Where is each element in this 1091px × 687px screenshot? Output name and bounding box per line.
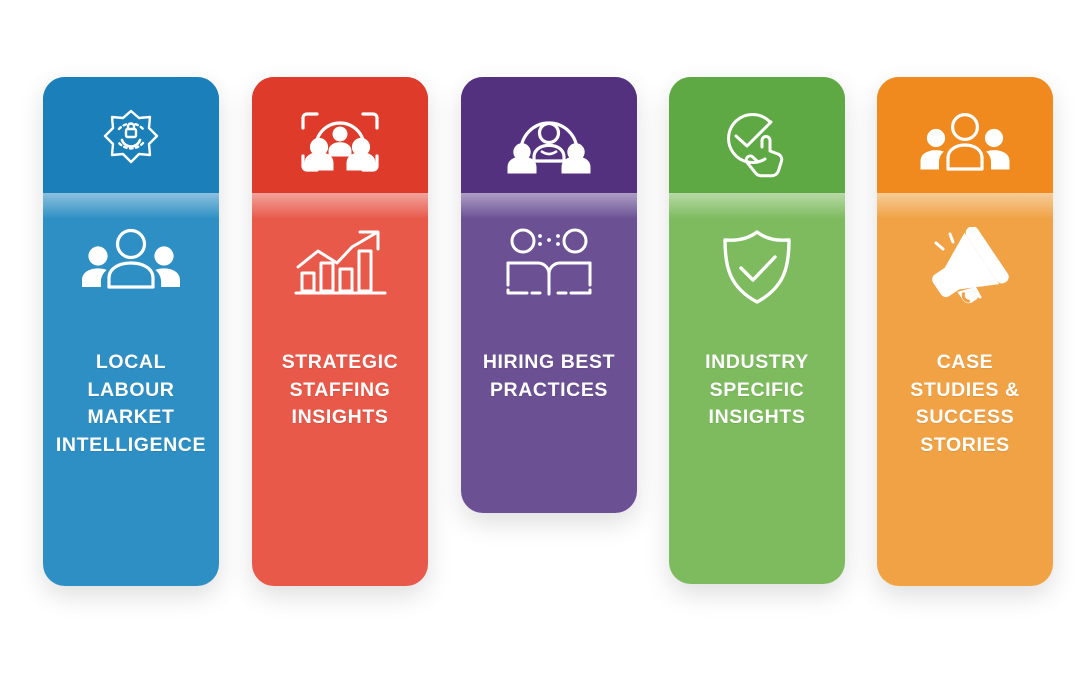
badge-smiley-lock-icon <box>96 107 166 177</box>
card-label: LOCAL LABOUR MARKET INTELLIGENCE <box>43 349 219 459</box>
card-label: INDUSTRY SPECIFIC INSIGHTS <box>669 349 845 432</box>
three-people-group-icon <box>919 111 1011 173</box>
card-label-line: INDUSTRY <box>677 349 837 377</box>
card-label-line: STAFFING <box>260 377 420 405</box>
group-people-icon <box>79 225 183 295</box>
open-book-heads-icon <box>499 225 599 299</box>
card-label-line: INSIGHTS <box>677 404 837 432</box>
card-label-line: SPECIFIC <box>677 377 837 405</box>
card-label-line: STORIES <box>885 432 1045 460</box>
card-label-line: MARKET <box>51 404 211 432</box>
card-label-line: HIRING BEST <box>469 349 629 377</box>
people-arc-group-icon <box>505 107 593 177</box>
card-label-line: SUCCESS <box>885 404 1045 432</box>
check-circle-hand-click-icon <box>719 107 795 179</box>
card-local-labour-market-intelligence[interactable]: LOCAL LABOUR MARKET INTELLIGENCE <box>43 77 219 586</box>
card-strategic-staffing-insights[interactable]: STRATEGIC STAFFING INSIGHTS <box>252 77 428 586</box>
megaphone-icon <box>920 227 1010 309</box>
card-label: STRATEGIC STAFFING INSIGHTS <box>252 349 428 432</box>
card-hiring-best-practices[interactable]: HIRING BEST PRACTICES <box>461 77 637 513</box>
card-label-line: STRATEGIC <box>260 349 420 377</box>
infographic-root: LOCAL LABOUR MARKET INTELLIGENCE <box>0 0 1091 687</box>
card-case-studies-success-stories[interactable]: CASE STUDIES & SUCCESS STORIES <box>877 77 1053 586</box>
card-label-line: INSIGHTS <box>260 404 420 432</box>
card-label-line: INTELLIGENCE <box>51 432 211 460</box>
card-label-line: PRACTICES <box>469 377 629 405</box>
card-label-line: STUDIES & <box>885 377 1045 405</box>
shield-check-icon <box>715 227 799 307</box>
card-label-line: CASE <box>885 349 1045 377</box>
card-label-line: LABOUR <box>51 377 211 405</box>
card-industry-specific-insights[interactable]: INDUSTRY SPECIFIC INSIGHTS <box>669 77 845 584</box>
card-label: HIRING BEST PRACTICES <box>461 349 637 404</box>
card-label-line: LOCAL <box>51 349 211 377</box>
people-focus-frame-icon <box>298 109 382 175</box>
bar-chart-growth-arrow-icon <box>290 227 390 299</box>
card-label: CASE STUDIES & SUCCESS STORIES <box>877 349 1053 459</box>
